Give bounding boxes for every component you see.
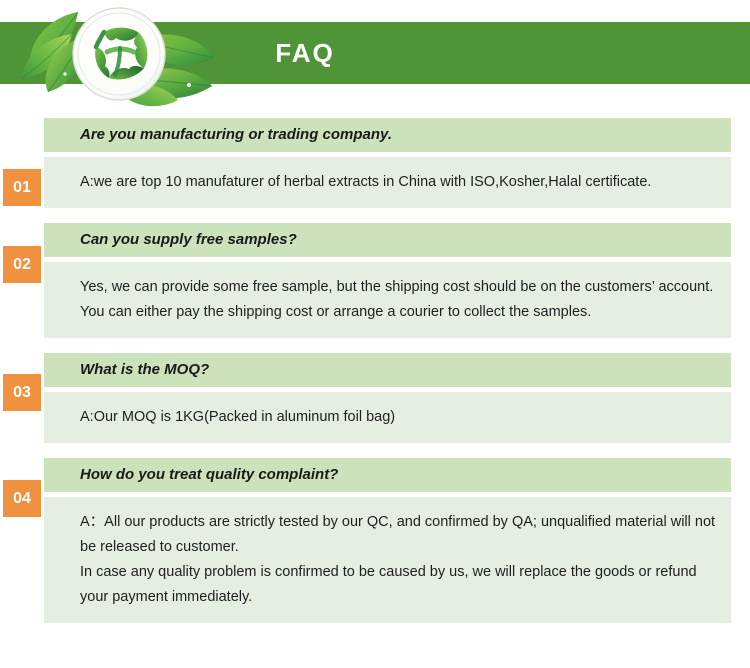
faq-answer-band: A：All our products are strictly tested b… <box>44 497 731 623</box>
faq-question-text: Are you manufacturing or trading company… <box>80 125 392 145</box>
faq-question-band[interactable]: How do you treat quality complaint? <box>44 458 731 492</box>
faq-answer-text: Yes, we can provide some free sample, bu… <box>80 279 713 320</box>
page-header: FAQ <box>0 0 750 118</box>
faq-answer-text: A:Our MOQ is 1KG(Packed in aluminum foil… <box>80 409 395 425</box>
faq-answer-band: A:we are top 10 manufaturer of herbal ex… <box>44 157 731 208</box>
faq-number-badge: 04 <box>3 480 41 517</box>
faq-list: 01 Are you manufacturing or trading comp… <box>0 118 750 638</box>
faq-question-band[interactable]: What is the MOQ? <box>44 353 731 387</box>
faq-question-text: How do you treat quality complaint? <box>80 465 338 485</box>
faq-number-badge: 02 <box>3 246 41 283</box>
faq-question-band[interactable]: Are you manufacturing or trading company… <box>44 118 731 152</box>
faq-question-text: Can you supply free samples? <box>80 230 297 250</box>
faq-number-badge: 03 <box>3 374 41 411</box>
faq-answer-band: Yes, we can provide some free sample, bu… <box>44 262 731 338</box>
faq-question-text: What is the MOQ? <box>80 360 209 380</box>
faq-answer-text: A:we are top 10 manufaturer of herbal ex… <box>80 174 651 190</box>
faq-answer-band: A:Our MOQ is 1KG(Packed in aluminum foil… <box>44 392 731 443</box>
faq-number-badge: 01 <box>3 169 41 206</box>
faq-question-band[interactable]: Can you supply free samples? <box>44 223 731 257</box>
faq-item: 01 Are you manufacturing or trading comp… <box>0 118 750 208</box>
faq-answer-text: A：All our products are strictly tested b… <box>80 514 715 605</box>
faq-item: 04 How do you treat quality complaint? A… <box>0 458 750 623</box>
faq-item: 03 What is the MOQ? A:Our MOQ is 1KG(Pac… <box>0 353 750 443</box>
faq-item: 02 Can you supply free samples? Yes, we … <box>0 223 750 338</box>
page-title: FAQ <box>0 36 610 70</box>
